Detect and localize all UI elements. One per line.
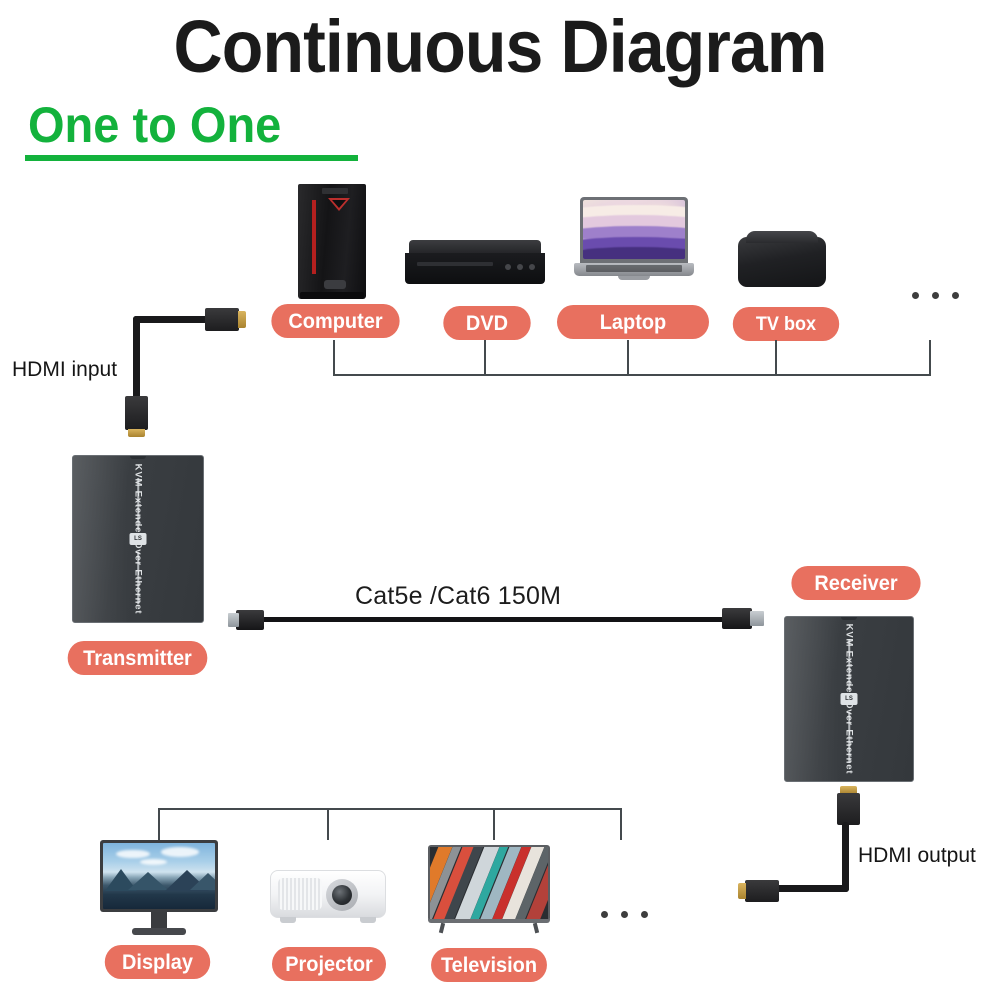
- source-label-computer[interactable]: Computer: [271, 304, 399, 338]
- displays-bus-right-riser: [620, 808, 622, 840]
- rj45-connector-right: [722, 608, 764, 629]
- pill-text: Laptop: [600, 312, 666, 333]
- tv-box-icon: [738, 231, 826, 287]
- ethernet-cable: [255, 617, 725, 622]
- displays-drop-television: [493, 808, 495, 840]
- source-label-laptop[interactable]: Laptop: [557, 305, 709, 339]
- receiver-chip: LS: [841, 693, 858, 705]
- pill-text: DVD: [466, 313, 508, 334]
- source-label-dvd[interactable]: DVD: [443, 306, 530, 340]
- ethernet-link-label: Cat5e /Cat6 150M: [355, 582, 561, 611]
- sources-drop-tvbox: [775, 340, 777, 375]
- monitor-icon: [100, 840, 218, 935]
- hdmi-output-plug-bottom-pins: [738, 883, 746, 899]
- source-label-tvbox[interactable]: TV box: [733, 307, 839, 341]
- television-icon: [428, 845, 550, 933]
- pill-text: Receiver: [814, 573, 897, 594]
- hdmi-input-plug-top: [205, 308, 239, 331]
- pill-text: Display: [122, 952, 193, 973]
- hdmi-output-wire-horizontal: [775, 885, 849, 892]
- display-label-projector[interactable]: Projector: [272, 947, 386, 981]
- hdmi-input-wire-horizontal: [133, 316, 213, 323]
- laptop-icon: [574, 197, 694, 283]
- page-title: Continuous Diagram: [40, 4, 960, 89]
- hdmi-input-plug-top-pins: [238, 311, 246, 328]
- transmitter-chip: LS: [130, 533, 147, 545]
- hdmi-output-plug-bottom: [745, 880, 779, 902]
- diagram-canvas: Continuous Diagram One to One: [0, 0, 1000, 1000]
- hdmi-output-plug-top: [837, 793, 860, 825]
- hdmi-input-label: HDMI input: [12, 358, 117, 382]
- sources-drop-dvd: [484, 340, 486, 375]
- hdmi-input-plug-bottom: [125, 396, 148, 430]
- sources-more-indicator: [912, 292, 959, 299]
- hdmi-output-wire-vertical: [842, 822, 849, 892]
- pill-text: TV box: [756, 315, 816, 334]
- dvd-player-icon: [405, 240, 545, 284]
- receiver-device[interactable]: KVM Extender Over Ethernet LS: [784, 616, 914, 782]
- projector-icon: [270, 870, 386, 926]
- sources-drop-laptop: [627, 340, 629, 375]
- transmitter-label[interactable]: Transmitter: [68, 641, 208, 675]
- hdmi-output-label: HDMI output: [858, 844, 976, 868]
- hdmi-input-wire-vertical: [133, 316, 140, 400]
- pill-text: Computer: [288, 311, 382, 332]
- pill-text: Projector: [285, 954, 373, 975]
- subtitle-underline: [25, 155, 358, 161]
- displays-drop-projector: [327, 808, 329, 840]
- pc-tower-icon: [298, 184, 366, 299]
- display-label-display[interactable]: Display: [105, 945, 210, 979]
- displays-more-indicator: [601, 911, 648, 918]
- pill-text: Television: [441, 955, 537, 976]
- sources-bus-right-riser: [929, 340, 931, 375]
- sources-bus-left-riser: [333, 340, 335, 375]
- displays-bus-line: [158, 808, 622, 810]
- hdmi-input-plug-bottom-pins: [128, 429, 145, 437]
- receiver-label[interactable]: Receiver: [791, 566, 920, 600]
- transmitter-device[interactable]: KVM Extender Over Ethernet LS: [72, 455, 204, 623]
- sources-bus-line: [333, 374, 931, 376]
- rj45-connector-left: [228, 610, 264, 630]
- pill-text: Transmitter: [83, 648, 192, 669]
- display-label-television[interactable]: Television: [431, 948, 547, 982]
- page-subtitle: One to One: [28, 96, 281, 154]
